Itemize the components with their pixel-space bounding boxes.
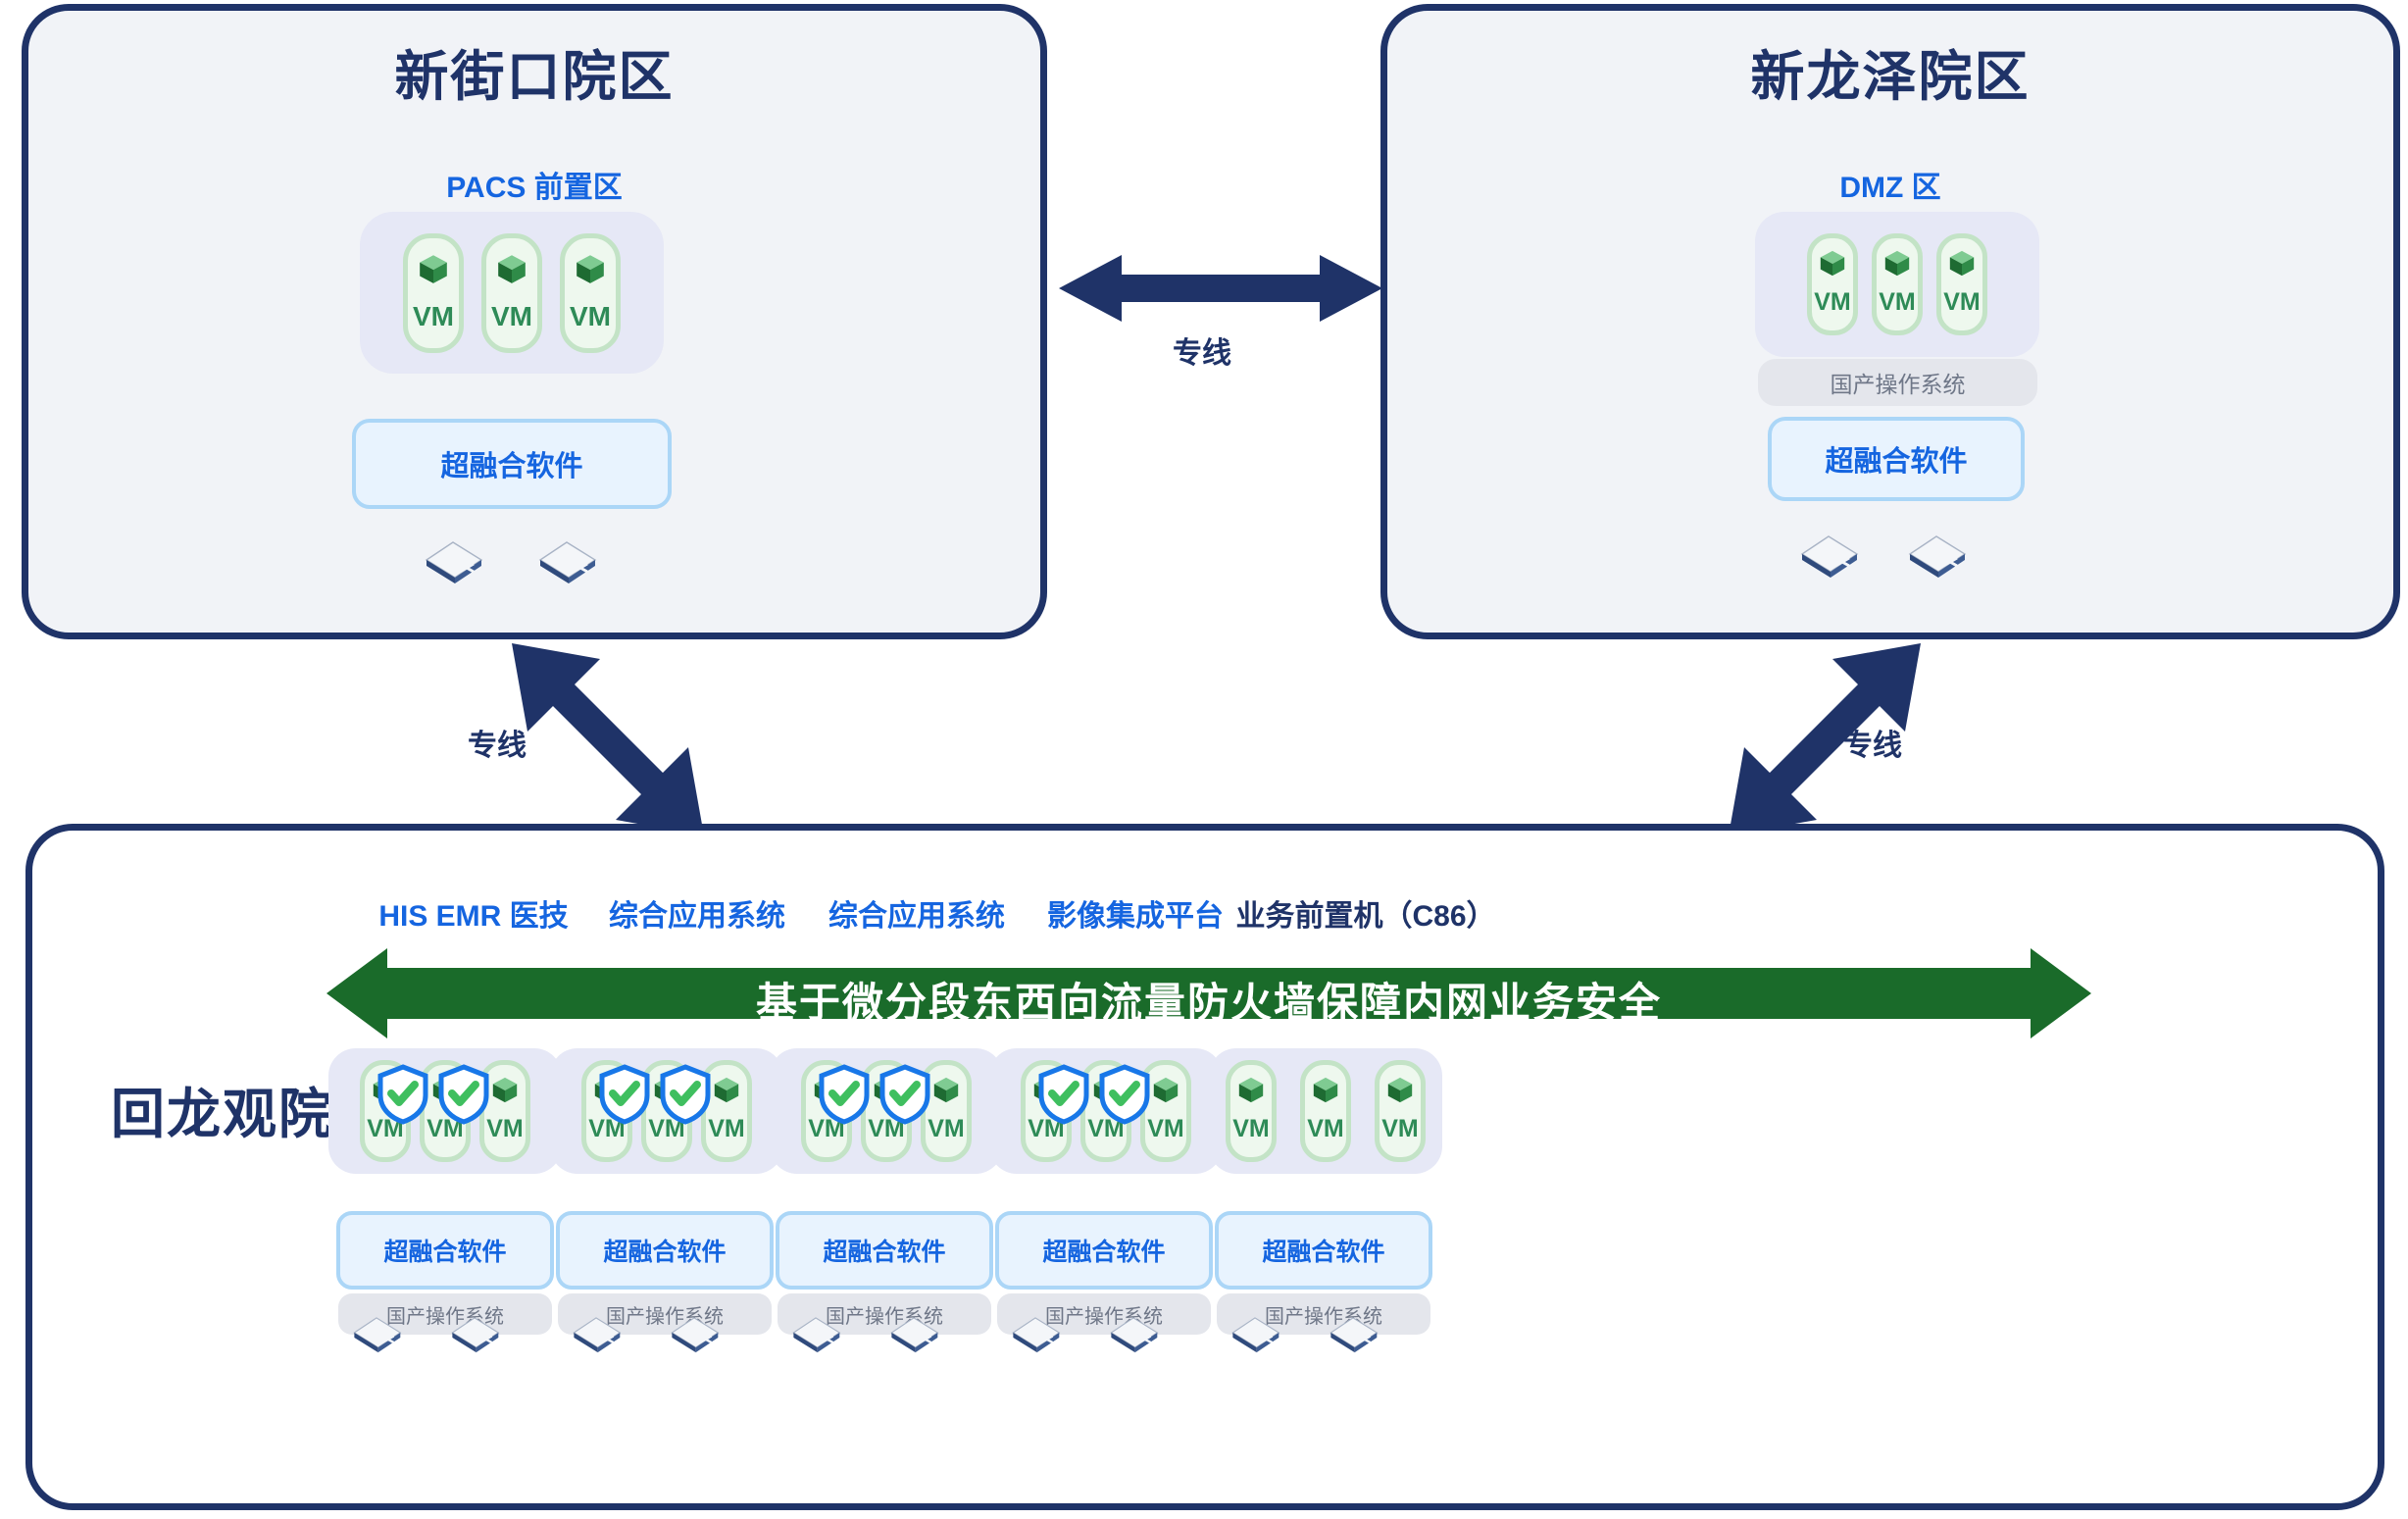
vm-group-column-2: VM VM VM: [550, 1048, 783, 1174]
vm-group-pacs: VM VM VM: [360, 212, 664, 374]
hci-software-box-xinlongze[interactable]: 超融合软件: [1768, 417, 2025, 501]
vm-card[interactable]: VM: [1375, 1060, 1426, 1162]
server-icon: [664, 1311, 725, 1354]
server-icon: [1323, 1311, 1383, 1354]
vm-card[interactable]: VM: [801, 1060, 852, 1162]
vm-group-column-3: VM VM VM: [770, 1048, 1003, 1174]
vm-card[interactable]: VM: [1936, 233, 1987, 335]
cube-icon: [1385, 1075, 1415, 1104]
vm-label: VM: [1232, 1117, 1270, 1141]
cube-icon: [872, 1075, 901, 1104]
vm-label: VM: [570, 303, 611, 330]
link-label-top: 专线: [1173, 329, 1231, 372]
cube-icon: [712, 1075, 741, 1104]
vm-label: VM: [1087, 1117, 1125, 1141]
cube-icon: [1882, 248, 1912, 278]
site-title-xinlongze: 新龙泽院区: [1387, 32, 2393, 111]
server-icon: [346, 1311, 407, 1354]
link-label-left: 专线: [468, 721, 527, 764]
vm-label: VM: [708, 1117, 745, 1141]
vm-label: VM: [808, 1117, 845, 1141]
vm-label: VM: [367, 1117, 404, 1141]
vm-label: VM: [1307, 1117, 1344, 1141]
cube-icon: [1151, 1075, 1180, 1104]
vm-card[interactable]: VM: [479, 1060, 530, 1162]
cube-icon: [812, 1075, 841, 1104]
server-icon: [417, 534, 489, 585]
vm-card[interactable]: VM: [921, 1060, 972, 1162]
vm-card[interactable]: VM: [581, 1060, 632, 1162]
cube-icon: [1947, 248, 1977, 278]
server-icon: [566, 1311, 627, 1354]
hci-software-box-column-3[interactable]: 超融合软件: [776, 1211, 993, 1290]
column-header-frontend-c86: 业务前置机（C86）: [1179, 891, 1552, 935]
vm-card[interactable]: VM: [560, 233, 621, 353]
cube-icon: [1818, 248, 1847, 278]
cube-icon: [574, 252, 607, 285]
os-pill-xinlongze: 国产操作系统: [1758, 359, 2037, 406]
hci-software-box-column-2[interactable]: 超融合软件: [556, 1211, 774, 1290]
link-arrow-horizontal: [1059, 247, 1382, 329]
site-panel-huilongguan: 回龙观院区 HIS EMR 医技 综合应用系统 综合应用系统 影像集成平台 业务…: [25, 824, 2384, 1510]
vm-label: VM: [1381, 1117, 1419, 1141]
server-icon: [444, 1311, 505, 1354]
vm-card[interactable]: VM: [1140, 1060, 1191, 1162]
vm-card[interactable]: VM: [861, 1060, 912, 1162]
hci-software-box-xinjiekou[interactable]: 超融合软件: [352, 419, 672, 509]
vm-card[interactable]: VM: [701, 1060, 752, 1162]
vm-label: VM: [1943, 290, 1981, 315]
cube-icon: [592, 1075, 622, 1104]
cube-icon: [1031, 1075, 1061, 1104]
server-icon: [1792, 529, 1865, 580]
cube-icon: [652, 1075, 681, 1104]
server-icon: [883, 1311, 944, 1354]
vm-label: VM: [413, 303, 454, 330]
vm-label: VM: [928, 1117, 965, 1141]
cube-icon: [1236, 1075, 1266, 1104]
vm-label: VM: [1147, 1117, 1184, 1141]
banner-label: 基于微分段东西向流量防火墙保障内网业务安全: [326, 970, 2091, 1030]
server-icon: [1225, 1311, 1285, 1354]
cube-icon: [1091, 1075, 1121, 1104]
cube-icon: [430, 1075, 460, 1104]
vm-card[interactable]: VM: [641, 1060, 692, 1162]
site-title-xinjiekou: 新街口院区: [28, 32, 1040, 111]
cube-icon: [495, 252, 528, 285]
site-panel-xinjiekou: 新街口院区 PACS 前置区 VM VM: [22, 4, 1047, 639]
zone-label-pacs: PACS 前置区: [28, 163, 1040, 206]
vm-card[interactable]: VM: [420, 1060, 471, 1162]
server-icon: [1103, 1311, 1164, 1354]
vm-card[interactable]: VM: [1021, 1060, 1072, 1162]
vm-label: VM: [868, 1117, 905, 1141]
vm-card[interactable]: VM: [1226, 1060, 1277, 1162]
cube-icon: [490, 1075, 520, 1104]
vm-label: VM: [491, 303, 532, 330]
vm-label: VM: [1879, 290, 1916, 315]
cube-icon: [1311, 1075, 1340, 1104]
microsegmentation-banner: 基于微分段东西向流量防火墙保障内网业务安全: [326, 948, 2091, 1038]
vm-card[interactable]: VM: [403, 233, 464, 353]
server-icon: [1900, 529, 1973, 580]
vm-label: VM: [588, 1117, 626, 1141]
vm-card[interactable]: VM: [481, 233, 542, 353]
vm-card[interactable]: VM: [1300, 1060, 1351, 1162]
vm-group-column-1: VM VM VM: [328, 1048, 562, 1174]
vm-group-column-4: VM VM VM: [989, 1048, 1223, 1174]
hci-software-box-column-5[interactable]: 超融合软件: [1215, 1211, 1432, 1290]
vm-label: VM: [426, 1117, 464, 1141]
hci-software-box-column-4[interactable]: 超融合软件: [995, 1211, 1213, 1290]
vm-label: VM: [486, 1117, 524, 1141]
server-icon: [530, 534, 603, 585]
vm-label: VM: [1028, 1117, 1065, 1141]
hci-software-box-column-1[interactable]: 超融合软件: [336, 1211, 554, 1290]
link-label-right: 专线: [1843, 721, 1902, 764]
vm-group-column-5: VM VM VM: [1209, 1048, 1442, 1174]
cube-icon: [931, 1075, 961, 1104]
server-icon: [785, 1311, 846, 1354]
vm-label: VM: [648, 1117, 685, 1141]
cube-icon: [371, 1075, 400, 1104]
vm-group-dmz: VM VM VM: [1755, 212, 2039, 357]
cube-icon: [417, 252, 450, 285]
zone-label-dmz: DMZ 区: [1387, 163, 2393, 206]
vm-label: VM: [1814, 290, 1851, 315]
vm-card[interactable]: VM: [1872, 233, 1923, 335]
vm-card[interactable]: VM: [360, 1060, 411, 1162]
vm-card[interactable]: VM: [1807, 233, 1858, 335]
vm-card[interactable]: VM: [1080, 1060, 1131, 1162]
server-icon: [1005, 1311, 1066, 1354]
site-panel-xinlongze: 新龙泽院区 DMZ 区 VM VM: [1380, 4, 2400, 639]
